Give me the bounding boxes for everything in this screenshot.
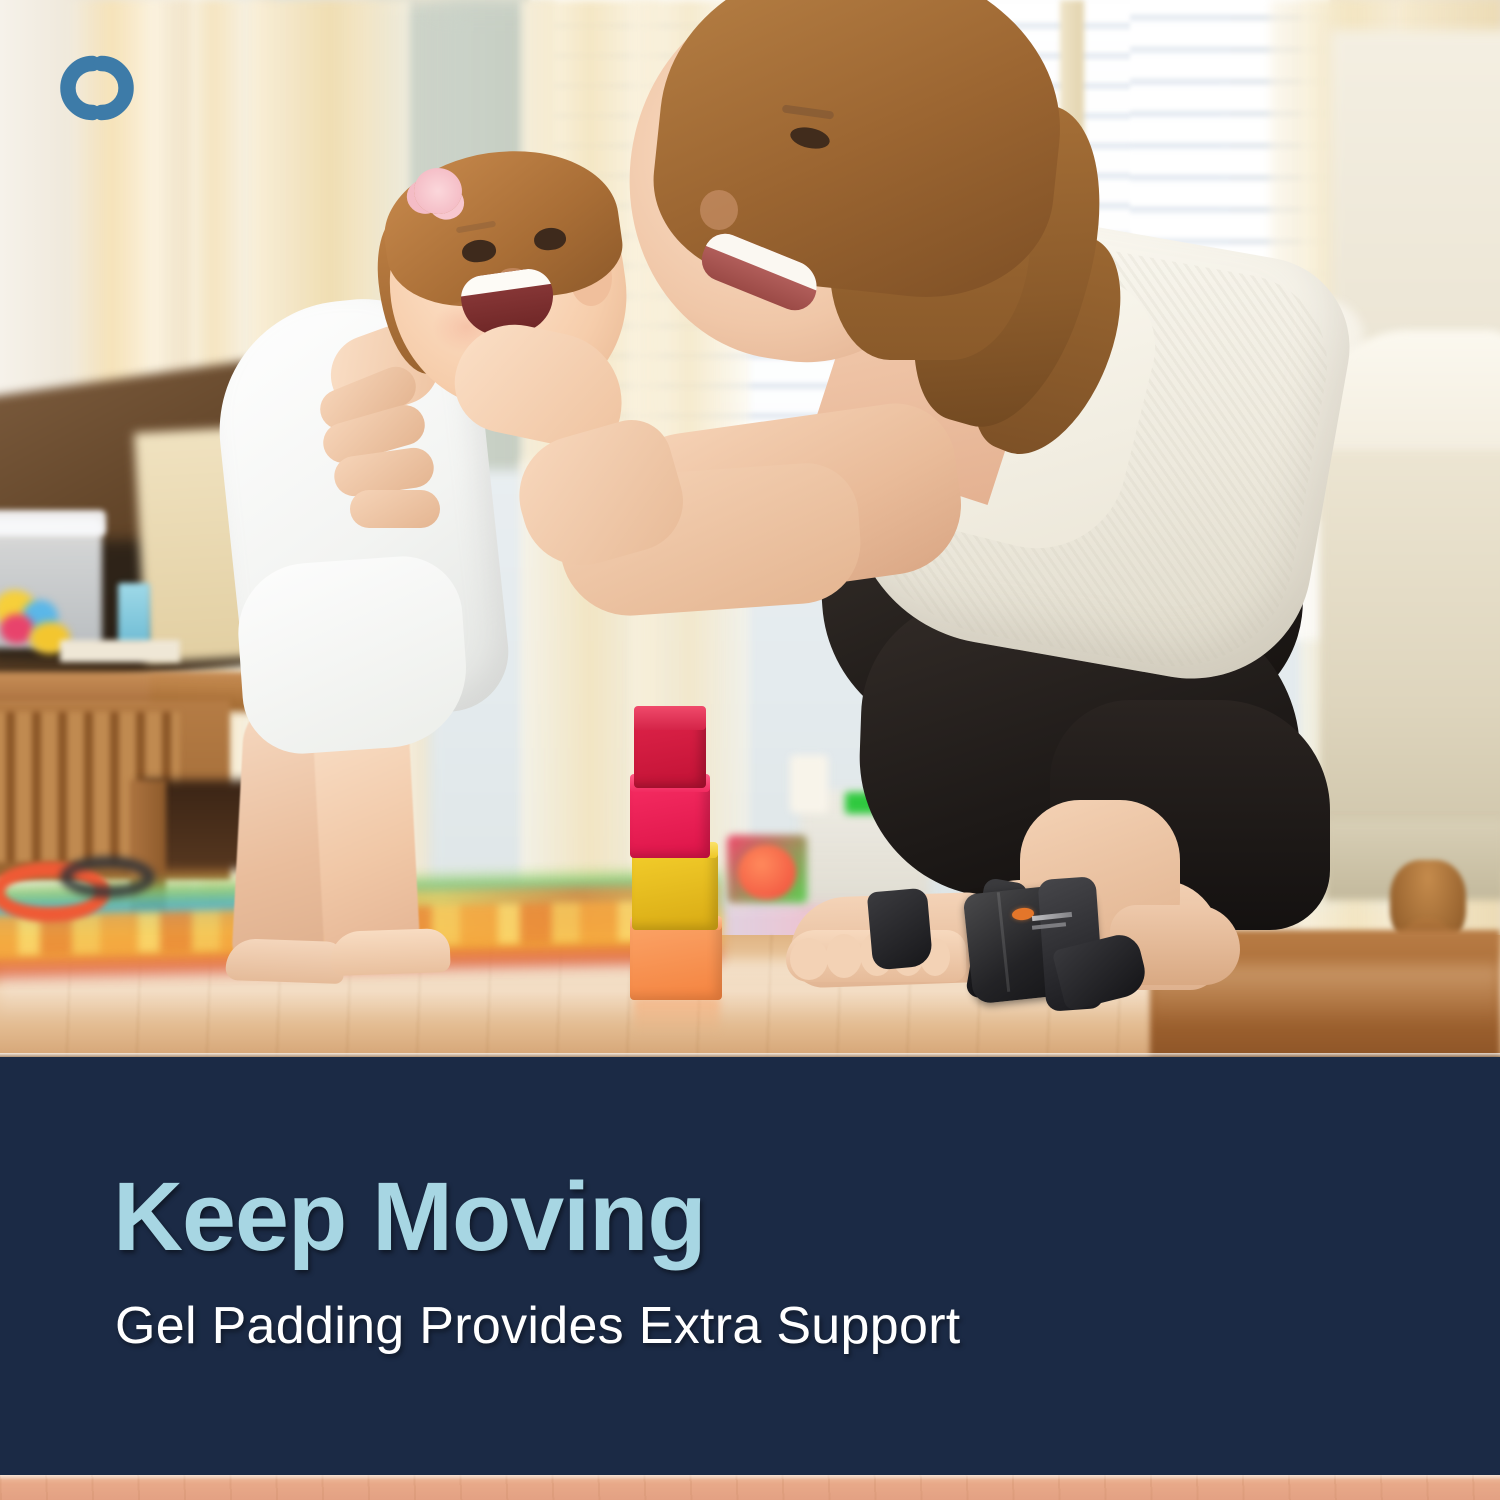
armchair-seat — [1320, 450, 1500, 870]
toy-bin-lid — [0, 510, 106, 536]
book-stack — [60, 640, 180, 662]
toy-orange-ball — [738, 845, 796, 900]
sippy-cup — [118, 583, 150, 645]
bottom-floor-strip-highlight — [0, 1475, 1500, 1480]
finger — [350, 490, 440, 528]
toe — [826, 934, 862, 978]
toe — [790, 938, 828, 980]
toy-white-block — [790, 755, 828, 813]
baby-left-foot — [225, 938, 344, 984]
toy-block-orange — [630, 920, 722, 1000]
banner-subheadline: Gel Padding Provides Extra Support — [115, 1300, 961, 1352]
banner-headline: Keep Moving — [113, 1168, 706, 1265]
lifestyle-photo — [0, 0, 1500, 1057]
mother-nose — [700, 190, 738, 230]
ring-toy-dark — [60, 856, 155, 898]
baby-right-foot — [329, 928, 450, 976]
baby-onesie-bottom — [234, 552, 472, 757]
toy-block-yellow — [632, 846, 718, 930]
ankle-brace-heel-strap — [867, 888, 934, 971]
interlocking-rings-icon — [38, 42, 156, 134]
product-marketing-image: Keep Moving Gel Padding Provides Extra S… — [0, 0, 1500, 1500]
brand-logo — [38, 42, 156, 134]
toy-ball — [0, 614, 34, 644]
toy-block-red-top — [634, 706, 706, 730]
blocks-reflection — [634, 998, 720, 1034]
